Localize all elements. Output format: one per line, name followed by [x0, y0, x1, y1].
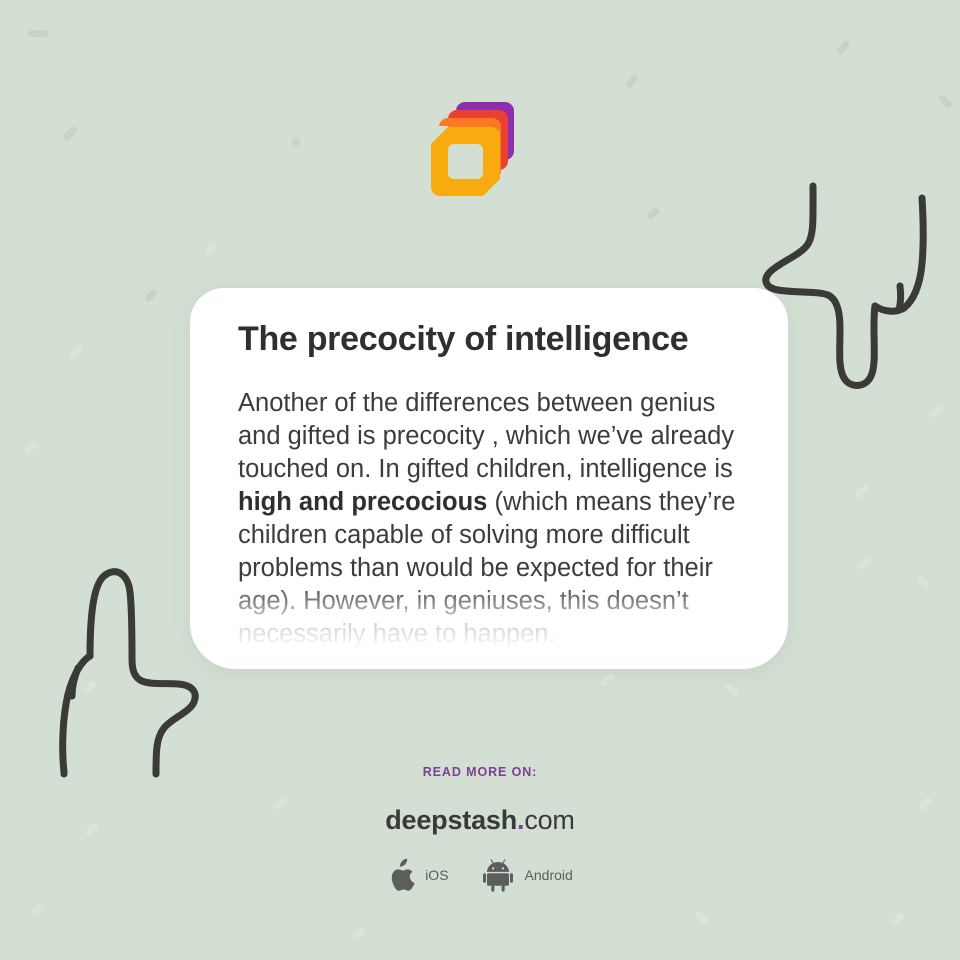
confetti-dash: [930, 404, 945, 420]
ios-store-badge[interactable]: iOS: [387, 858, 448, 892]
wordmark-brand: deepstash: [385, 805, 517, 835]
deepstash-wordmark[interactable]: deepstash.com: [0, 805, 960, 836]
confetti-dash: [916, 574, 931, 590]
confetti-dash: [30, 902, 46, 917]
content-card: The precocity of intelligence Another of…: [190, 288, 788, 669]
android-badge-label: Android: [525, 867, 573, 883]
deepstash-cube-logo: [428, 102, 520, 198]
confetti-dash: [890, 912, 905, 928]
confetti-dash: [724, 682, 740, 697]
footer: READ MORE ON: deepstash.com iOS: [0, 765, 960, 892]
confetti-dash: [858, 556, 873, 572]
wordmark-tld: com: [524, 805, 574, 835]
card-body-emphasis: high and precocious: [238, 488, 487, 516]
ios-badge-label: iOS: [425, 867, 448, 883]
apple-icon: [387, 858, 417, 892]
android-icon: [483, 858, 517, 892]
logo-corner-cut: [482, 178, 501, 197]
card-inner: The precocity of intelligence Another of…: [190, 288, 788, 652]
card-body-text: Another of the differences between geniu…: [238, 387, 740, 652]
confetti-dash: [854, 484, 871, 500]
confetti-dash: [204, 240, 218, 255]
confetti-dash: [352, 926, 367, 942]
page-title: The precocity of intelligence: [238, 318, 740, 361]
confetti-dash: [28, 30, 48, 37]
confetti-dash: [645, 206, 660, 220]
confetti-dash: [694, 910, 710, 925]
confetti-dash: [600, 672, 616, 687]
confetti-dash: [62, 125, 78, 142]
deepstash-share-card: The precocity of intelligence Another of…: [0, 0, 960, 960]
confetti-dash: [24, 440, 39, 455]
confetti-dash: [68, 343, 83, 360]
confetti-dash: [144, 288, 159, 303]
store-badges: iOS Android: [0, 858, 960, 892]
confetti-dash: [836, 40, 851, 56]
confetti-dash: [624, 73, 638, 89]
confetti-dash: [82, 680, 97, 696]
android-store-badge[interactable]: Android: [483, 858, 573, 892]
logo-layer-amber: [431, 127, 500, 196]
logo-corner-cut-top: [430, 126, 449, 145]
confetti-dot: [292, 138, 300, 146]
read-more-label: READ MORE ON:: [0, 765, 960, 779]
confetti-dash: [938, 94, 954, 109]
